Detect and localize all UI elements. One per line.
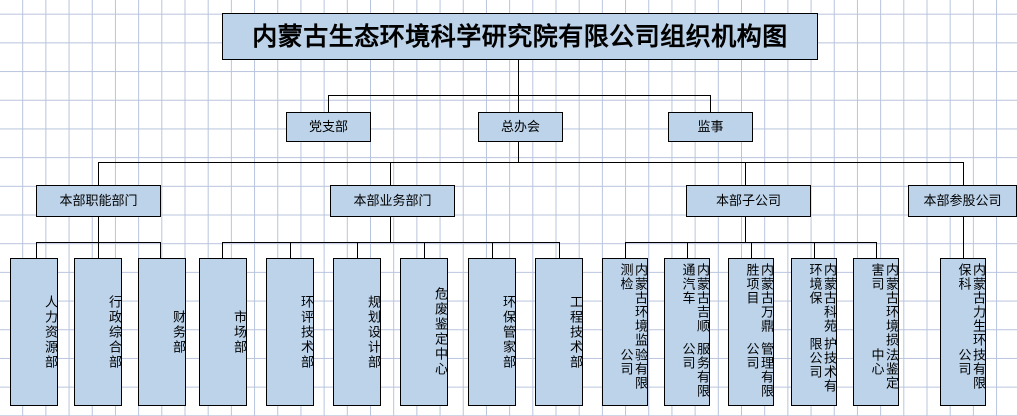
connector-level2-drop-2	[710, 95, 711, 112]
leaf-label-col-b: 技有限公司	[956, 348, 985, 401]
leaf-label-col-a: 内蒙古环境损害司	[869, 263, 898, 348]
leaf-subsidiary-jishuntong-auto[interactable]: 内蒙古吉顺通汽车 服务有限公司	[664, 258, 710, 406]
connector-general-office-down	[518, 142, 519, 163]
node-supervisor[interactable]: 监事	[668, 112, 753, 142]
leaf-label-col-a: 内蒙古吉顺通汽车	[680, 263, 709, 342]
leaf-affiliate-lisheng-env-tech[interactable]: 内蒙古力生环保科 技有限公司	[940, 258, 986, 406]
node-label: 监事	[697, 120, 723, 135]
connector-business-drop-4	[492, 242, 493, 258]
connector-business-drop-3	[424, 242, 425, 258]
node-label: 本部业务部门	[353, 194, 431, 209]
connector-business-bus	[222, 242, 560, 243]
node-label: 本部子公司	[716, 194, 781, 209]
leaf-label: 行政综合部	[106, 295, 121, 370]
leaf-label-col-a: 内蒙古科苑环境保	[807, 263, 836, 337]
leaf-label-col-b: 法鉴定中心	[869, 348, 898, 401]
node-general-office[interactable]: 总办会	[478, 112, 563, 142]
node-label: 总办会	[501, 120, 540, 135]
connector-functional-drop-0	[36, 242, 37, 258]
leaf-label: 危废鉴定中心	[432, 287, 447, 377]
connector-functional-down	[98, 217, 99, 242]
leaf-label: 规划设计部	[365, 295, 380, 370]
node-affiliates[interactable]: 本部参股公司	[908, 185, 1017, 217]
node-business-departments[interactable]: 本部业务部门	[330, 185, 455, 217]
leaf-subsidiary-wandingsheng-pm[interactable]: 内蒙古万鼎胜项目 管理有限公司	[728, 258, 774, 406]
leaf-label: 财务部	[170, 310, 185, 355]
connector-functional-drop-2	[160, 242, 161, 258]
connector-subsidiary-drop-0	[625, 242, 626, 258]
connector-business-drop-1	[290, 242, 291, 258]
connector-level2-drop-1	[518, 95, 519, 112]
chart-title-text: 内蒙古生态环境科学研究院有限公司组织机构图	[252, 23, 788, 51]
connector-business-drop-0	[222, 242, 223, 258]
connector-level3-drop-3	[963, 162, 964, 185]
leaf-env-steward-department[interactable]: 环保管家部	[468, 258, 516, 406]
node-label: 党支部	[309, 120, 348, 135]
connector-level3-drop-2	[745, 162, 746, 185]
leaf-engineering-tech-department[interactable]: 工程技术部	[535, 258, 583, 406]
leaf-label-col-b: 管理有限公司	[744, 342, 773, 401]
leaf-finance-department[interactable]: 财务部	[138, 258, 186, 406]
node-functional-departments[interactable]: 本部职能部门	[36, 185, 161, 217]
connector-subsidiary-down	[745, 217, 746, 242]
node-label: 本部职能部门	[59, 194, 137, 209]
node-label: 本部参股公司	[923, 194, 1001, 209]
leaf-eia-tech-department[interactable]: 环评技术部	[266, 258, 314, 406]
leaf-label: 环保管家部	[500, 295, 515, 370]
connector-subsidiary-drop-2	[751, 242, 752, 258]
leaf-subsidiary-env-monitoring[interactable]: 内蒙古环境监测检 验有限公司	[602, 258, 648, 406]
connector-subsidiary-drop-4	[876, 242, 877, 258]
connector-title-down	[518, 60, 519, 95]
leaf-label-col-a: 内蒙古力生环保科	[956, 263, 985, 348]
leaf-label-col-b: 验有限公司	[618, 348, 647, 401]
leaf-label-col-b: 服务有限公司	[680, 342, 709, 401]
connector-affiliate-drop-0	[963, 217, 964, 258]
org-chart-canvas: 内蒙古生态环境科学研究院有限公司组织机构图 党支部 总办会 监事 本部职能部门 …	[0, 0, 1017, 416]
leaf-hr-department[interactable]: 人力资源部	[10, 258, 58, 406]
leaf-label-col-b: 护技术有限公司	[807, 337, 836, 401]
connector-level2-bus	[328, 95, 711, 96]
connector-level3-bus	[98, 162, 964, 163]
connector-level3-drop-0	[98, 162, 99, 185]
leaf-admin-department[interactable]: 行政综合部	[74, 258, 122, 406]
leaf-label: 人力资源部	[42, 295, 57, 370]
connector-business-down	[390, 217, 391, 242]
chart-title-box: 内蒙古生态环境科学研究院有限公司组织机构图	[222, 13, 818, 60]
leaf-label-col-a: 内蒙古环境监测检	[618, 263, 647, 348]
connector-subsidiary-drop-3	[814, 242, 815, 258]
leaf-subsidiary-env-damage-forensics[interactable]: 内蒙古环境损害司 法鉴定中心	[853, 258, 899, 406]
leaf-label: 环评技术部	[298, 295, 313, 370]
node-subsidiaries[interactable]: 本部子公司	[686, 185, 811, 217]
leaf-label: 工程技术部	[567, 295, 582, 370]
leaf-label-col-a: 内蒙古万鼎胜项目	[744, 263, 773, 342]
leaf-label: 市场部	[231, 310, 246, 355]
connector-business-drop-2	[357, 242, 358, 258]
connector-level2-drop-0	[328, 95, 329, 112]
connector-subsidiary-drop-1	[687, 242, 688, 258]
leaf-hazardous-waste-center[interactable]: 危废鉴定中心	[400, 258, 448, 406]
connector-business-drop-5	[559, 242, 560, 258]
leaf-market-department[interactable]: 市场部	[199, 258, 247, 406]
leaf-subsidiary-keyuan-env-protection[interactable]: 内蒙古科苑环境保 护技术有限公司	[791, 258, 837, 406]
node-party-branch[interactable]: 党支部	[286, 112, 371, 142]
connector-functional-drop-1	[98, 242, 99, 258]
leaf-planning-design-department[interactable]: 规划设计部	[333, 258, 381, 406]
connector-level3-drop-1	[390, 162, 391, 185]
